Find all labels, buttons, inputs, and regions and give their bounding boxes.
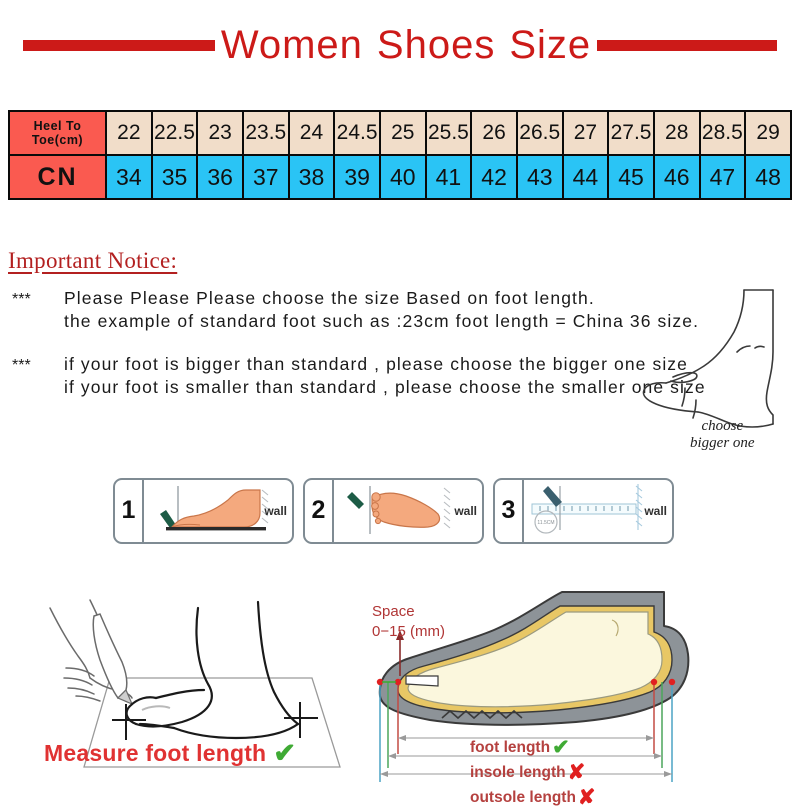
cell-cn: 36	[197, 155, 243, 199]
cell-cn: 40	[380, 155, 426, 199]
cell-cm: 25	[380, 111, 426, 155]
asterisk-marker: ***	[12, 357, 64, 375]
asterisk-marker: ***	[12, 291, 64, 309]
cell-cm: 23.5	[243, 111, 289, 155]
space-annotation-line-2: 0−15 (mm)	[372, 622, 445, 642]
insole-length-label-row: insole length ✘	[470, 761, 596, 786]
cell-cm: 27.5	[608, 111, 654, 155]
outsole-length-label-row: outsole length ✘	[470, 786, 596, 810]
step-panel-2: 2 wall	[303, 478, 484, 544]
wall-label: wall	[644, 504, 667, 518]
row-header-cn: CN	[9, 155, 106, 199]
page-title-row: WomenShoesSize	[0, 18, 800, 72]
step-number: 1	[115, 480, 144, 542]
shoe-size-chart-page: WomenShoesSize Heel To Toe(cm) 22 22.5 2…	[0, 0, 800, 800]
cell-cn: 45	[608, 155, 654, 199]
notice-text-block: *** Please Please Please choose the size…	[12, 288, 692, 400]
cell-cm: 22	[106, 111, 152, 155]
notice-line-text: if your foot is bigger than standard , p…	[64, 354, 688, 375]
cell-cm: 26	[471, 111, 517, 155]
check-mark-icon: ✔	[552, 736, 570, 761]
wall-label: wall	[454, 504, 477, 518]
check-mark-icon: ✔	[273, 738, 296, 769]
cell-cn: 41	[426, 155, 472, 199]
space-annotation-line-1: Space	[372, 602, 445, 622]
step-panel-3: 3 11.5CM	[493, 478, 674, 544]
sketch-caption-line-2: bigger one	[690, 435, 755, 452]
measure-foot-caption: Measure foot length ✔	[44, 738, 296, 769]
title-bar-right	[597, 40, 777, 51]
cell-cm: 24	[289, 111, 335, 155]
cell-cn: 35	[152, 155, 198, 199]
step-2-illustration: wall	[334, 480, 482, 542]
foot-length-label: foot length	[470, 739, 550, 757]
notice-line: *** the example of standard foot such as…	[12, 311, 692, 332]
space-annotation: Space 0−15 (mm)	[372, 602, 445, 643]
outsole-length-label: outsole length	[470, 789, 576, 807]
size-conversion-table: Heel To Toe(cm) 22 22.5 23 23.5 24 24.5 …	[8, 110, 792, 200]
notice-line-text: if your foot is smaller than standard , …	[64, 377, 706, 398]
notice-line: *** if your foot is bigger than standard…	[12, 354, 692, 375]
page-title-word-3: Size	[509, 23, 591, 67]
cell-cn: 43	[517, 155, 563, 199]
ruler-badge-text: 11.5CM	[537, 520, 554, 526]
cell-cm: 22.5	[152, 111, 198, 155]
cell-cm: 26.5	[517, 111, 563, 155]
cell-cn: 46	[654, 155, 700, 199]
table-row-heel-to-toe: Heel To Toe(cm) 22 22.5 23 23.5 24 24.5 …	[9, 111, 791, 155]
cell-cm: 28	[654, 111, 700, 155]
cell-cn: 44	[563, 155, 609, 199]
foot-length-label-row: foot length ✔	[470, 736, 596, 761]
wall-label: wall	[264, 504, 287, 518]
cell-cm: 23	[197, 111, 243, 155]
insole-length-label: insole length	[470, 764, 566, 782]
row-header-heel-to-toe: Heel To Toe(cm)	[9, 111, 106, 155]
step-panel-1: 1 wall	[113, 478, 294, 544]
notice-line: *** Please Please Please choose the size…	[12, 288, 692, 309]
cell-cn: 48	[745, 155, 791, 199]
measurement-steps: 1 wall 2	[113, 478, 674, 544]
sketch-caption-line-1: choose	[690, 418, 755, 435]
cell-cm: 29	[745, 111, 791, 155]
sketch-caption: choose bigger one	[690, 418, 755, 453]
cell-cm: 28.5	[700, 111, 746, 155]
cell-cm: 25.5	[426, 111, 472, 155]
cell-cm: 27	[563, 111, 609, 155]
notice-line-text: Please Please Please choose the size Bas…	[64, 288, 595, 309]
table-row-cn: CN 34 35 36 37 38 39 40 41 42 43 44 45 4…	[9, 155, 791, 199]
measure-foot-caption-text: Measure foot length	[44, 740, 266, 767]
step-1-illustration: wall	[144, 480, 292, 542]
cross-mark-icon: ✘	[578, 786, 596, 810]
page-title-word-1: Women	[221, 23, 363, 67]
page-title-word-2: Shoes	[377, 23, 495, 67]
notice-line: *** if your foot is smaller than standar…	[12, 377, 692, 398]
cell-cn: 47	[700, 155, 746, 199]
important-notice-heading: Important Notice:	[8, 248, 177, 274]
cell-cm: 24.5	[334, 111, 380, 155]
step-number: 3	[495, 480, 524, 542]
cell-cn: 42	[471, 155, 517, 199]
cell-cn: 39	[334, 155, 380, 199]
page-title: WomenShoesSize	[221, 23, 591, 68]
cell-cn: 37	[243, 155, 289, 199]
notice-line-text: the example of standard foot such as :23…	[64, 311, 699, 332]
step-3-illustration: 11.5CM wall	[524, 480, 672, 542]
cross-mark-icon: ✘	[568, 761, 586, 786]
cell-cn: 38	[289, 155, 335, 199]
cell-cn: 34	[106, 155, 152, 199]
title-bar-left	[23, 40, 215, 51]
length-measurement-labels: foot length ✔ insole length ✘ outsole le…	[470, 736, 596, 810]
step-number: 2	[305, 480, 334, 542]
